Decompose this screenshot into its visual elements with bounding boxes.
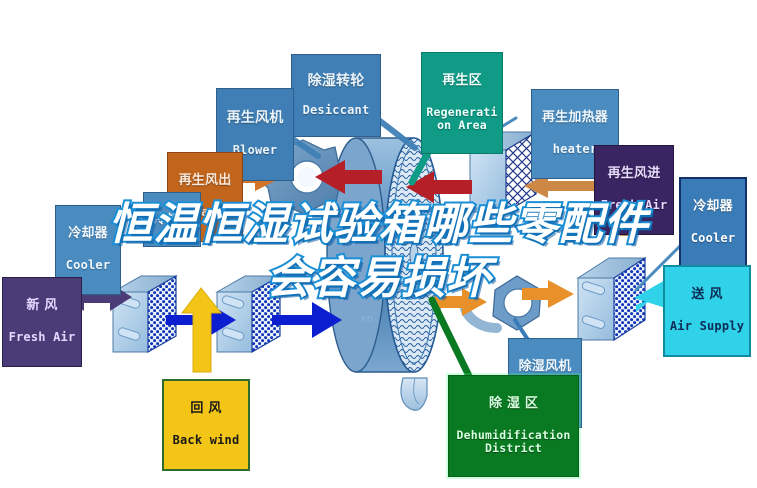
- headline-line-2: 会容易损坏: [0, 252, 757, 306]
- page-title: 恒温恒湿试验箱哪些零配件 会容易损坏: [0, 198, 757, 306]
- label-dehum-district: 除 湿 区 Dehumidification District: [448, 375, 579, 477]
- svg-text:xn: xn: [360, 312, 373, 325]
- label-desiccant-rotor: 除湿转轮 Desiccant: [291, 54, 381, 137]
- drip-tray: [401, 378, 427, 410]
- headline-line-1: 恒温恒湿试验箱哪些零配件: [0, 198, 757, 252]
- diagram-canvas: xn: [0, 0, 757, 488]
- label-regen-area: 再生区 Regenerati on Area: [421, 52, 503, 154]
- label-back-wind: 回 风 Back wind: [162, 379, 250, 471]
